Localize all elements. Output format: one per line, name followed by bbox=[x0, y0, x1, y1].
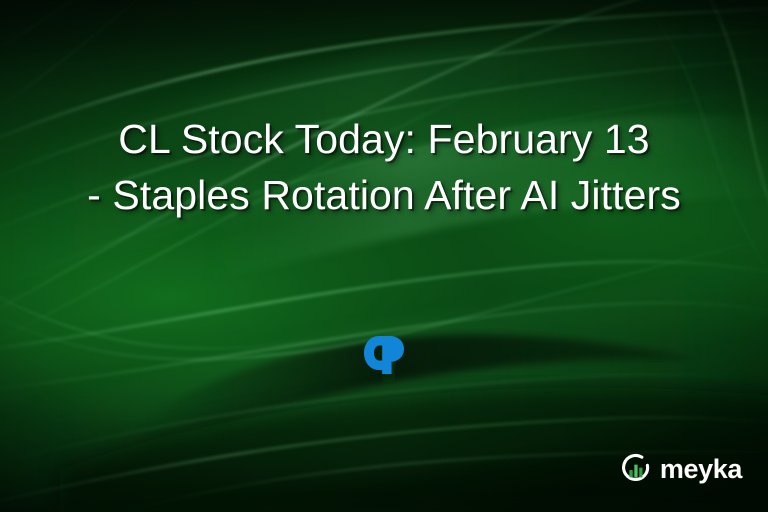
cp-logo bbox=[358, 327, 410, 379]
brand-logo: meyka bbox=[619, 452, 742, 486]
background-vignette bbox=[0, 0, 768, 512]
brand-name-label: meyka bbox=[660, 456, 742, 483]
page-title: CL Stock Today: February 13 - Staples Ro… bbox=[34, 112, 734, 224]
background-wave-pattern bbox=[0, 0, 768, 512]
news-banner-card: CL Stock Today: February 13 - Staples Ro… bbox=[0, 0, 768, 512]
cp-logo-icon bbox=[358, 327, 410, 379]
background-gradient bbox=[0, 0, 768, 512]
meyka-circle-bars-icon bbox=[619, 452, 653, 486]
